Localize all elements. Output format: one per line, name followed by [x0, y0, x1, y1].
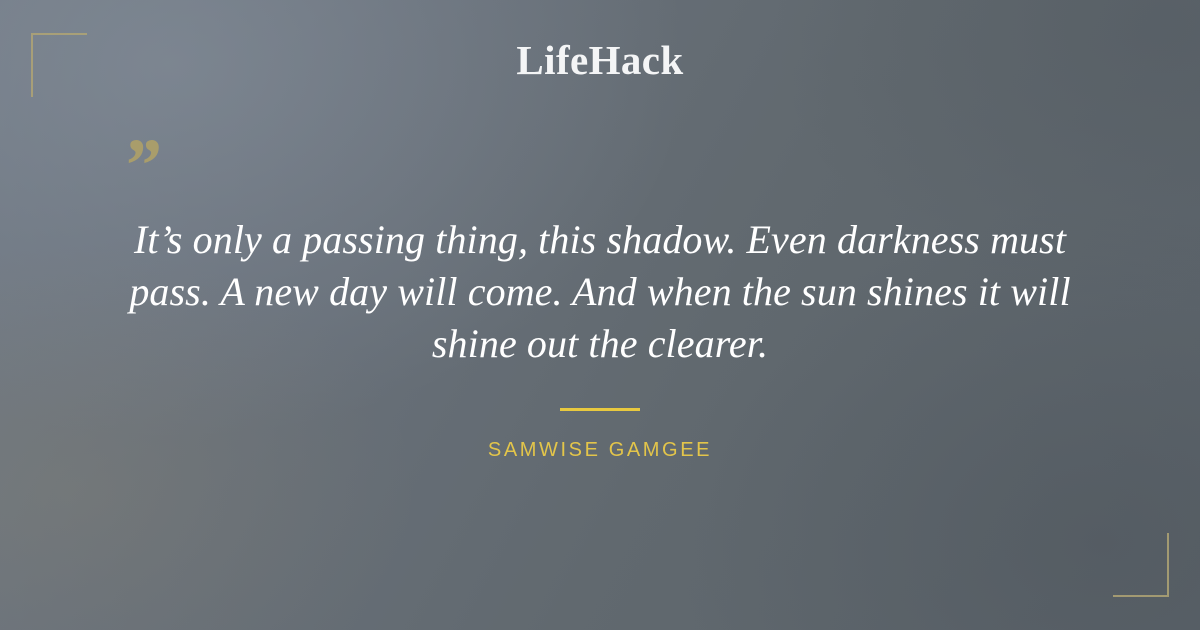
quote-mark-icon: ”: [122, 128, 158, 204]
quote-container: It’s only a passing thing, this shadow. …: [96, 214, 1104, 370]
gold-divider: [560, 408, 640, 411]
quote-author: SAMWISE GAMGEE: [0, 438, 1200, 462]
quote-card: LifeHack ” It’s only a passing thing, th…: [0, 0, 1200, 630]
corner-bracket-bottom-right-icon: [1113, 533, 1169, 597]
brand-logo: LifeHack: [0, 40, 1200, 81]
quote-text: It’s only a passing thing, this shadow. …: [96, 214, 1104, 370]
